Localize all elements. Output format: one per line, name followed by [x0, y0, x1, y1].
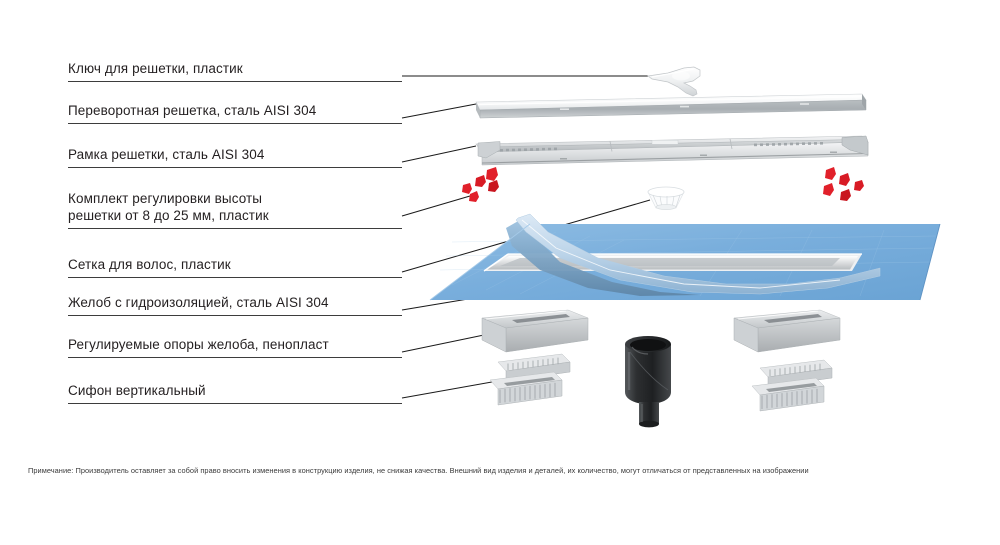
callout-rule-supports — [68, 357, 402, 358]
disclaimer-note: Примечание: Производитель оставляет за с… — [28, 466, 972, 476]
callout-label-supports: Регулируемые опоры желоба, пенопласт — [68, 336, 329, 353]
callout-channel: Желоб с гидроизоляцией, сталь AISI 304 — [68, 294, 329, 311]
grate-frame — [476, 136, 868, 165]
callout-label-hair-strainer: Сетка для волос, пластик — [68, 256, 231, 273]
callout-label-height-kit: Комплект регулировки высоты решетки от 8… — [68, 190, 269, 224]
callout-grate: Переворотная решетка, сталь AISI 304 — [68, 102, 316, 119]
adjustable-foam-support-left — [482, 310, 588, 352]
callout-rule-siphon — [68, 403, 402, 404]
callout-height-kit: Комплект регулировки высоты решетки от 8… — [68, 190, 269, 224]
callout-hair-strainer: Сетка для волос, пластик — [68, 256, 231, 273]
callout-rule-hair-strainer — [68, 277, 402, 278]
callout-frame: Рамка решетки, сталь AISI 304 — [68, 146, 264, 163]
callout-key: Ключ для решетки, пластик — [68, 60, 243, 77]
callout-label-channel: Желоб с гидроизоляцией, сталь AISI 304 — [68, 294, 329, 311]
callout-rule-channel — [68, 315, 402, 316]
comb-spacer-right — [752, 360, 832, 411]
leader-line-grate — [402, 104, 476, 118]
callout-rule-key — [68, 81, 402, 82]
adjustable-foam-support-right — [734, 310, 840, 352]
callout-supports: Регулируемые опоры желоба, пенопласт — [68, 336, 329, 353]
channel-with-membrane — [430, 214, 940, 300]
height-adjustment-clips-right — [823, 167, 864, 201]
leader-line-frame — [402, 146, 476, 162]
vertical-siphon — [625, 336, 671, 427]
reversible-grate — [476, 94, 866, 118]
callout-rule-grate — [68, 123, 402, 124]
grate-key-tool — [648, 67, 700, 96]
callout-rule-height-kit — [68, 228, 402, 229]
callout-label-grate: Переворотная решетка, сталь AISI 304 — [68, 102, 316, 119]
callout-label-frame: Рамка решетки, сталь AISI 304 — [68, 146, 264, 163]
callout-rule-frame — [68, 167, 402, 168]
diagram-canvas: Ключ для решетки, пластик Переворотная р… — [0, 0, 1000, 545]
callout-label-key: Ключ для решетки, пластик — [68, 60, 243, 77]
callout-siphon: Сифон вертикальный — [68, 382, 206, 399]
callout-label-siphon: Сифон вертикальный — [68, 382, 206, 399]
hair-strainer — [648, 187, 684, 210]
leader-line-height-kit — [402, 196, 470, 216]
comb-spacer-left — [490, 354, 570, 405]
